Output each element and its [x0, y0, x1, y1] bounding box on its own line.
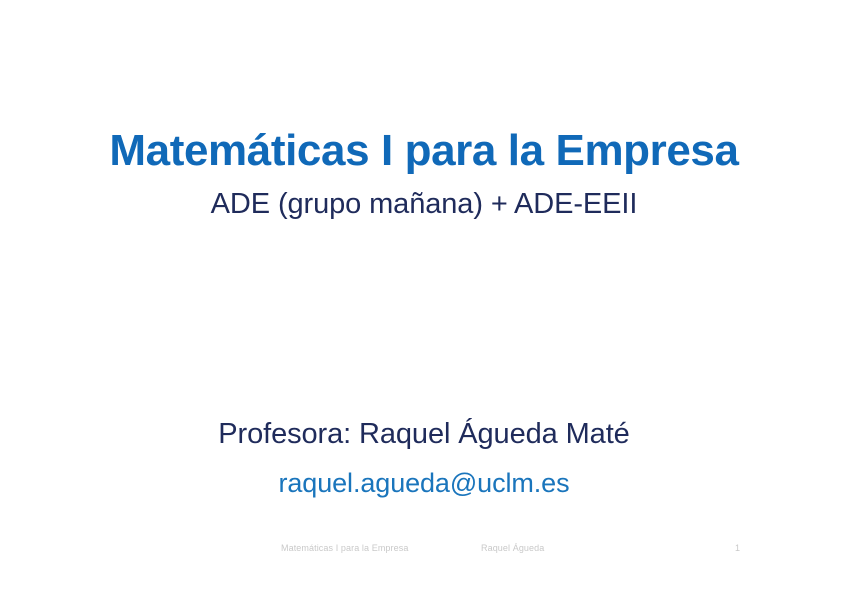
- footer-page-number: 1: [735, 540, 740, 556]
- slide-title: Matemáticas I para la Empresa: [0, 125, 848, 177]
- presenter-email[interactable]: raquel.agueda@uclm.es: [0, 466, 848, 500]
- slide-canvas: Matemáticas I para la Empresa ADE (grupo…: [0, 0, 848, 599]
- footer-course-title: Matemáticas I para la Empresa: [281, 540, 408, 556]
- presenter-name: Profesora: Raquel Águeda Maté: [0, 416, 848, 452]
- slide-subtitle: ADE (grupo mañana) + ADE-EEII: [0, 186, 848, 222]
- footer-author: Raquel Águeda: [481, 540, 544, 556]
- slide-footer: Matemáticas I para la Empresa Raquel Águ…: [0, 540, 848, 556]
